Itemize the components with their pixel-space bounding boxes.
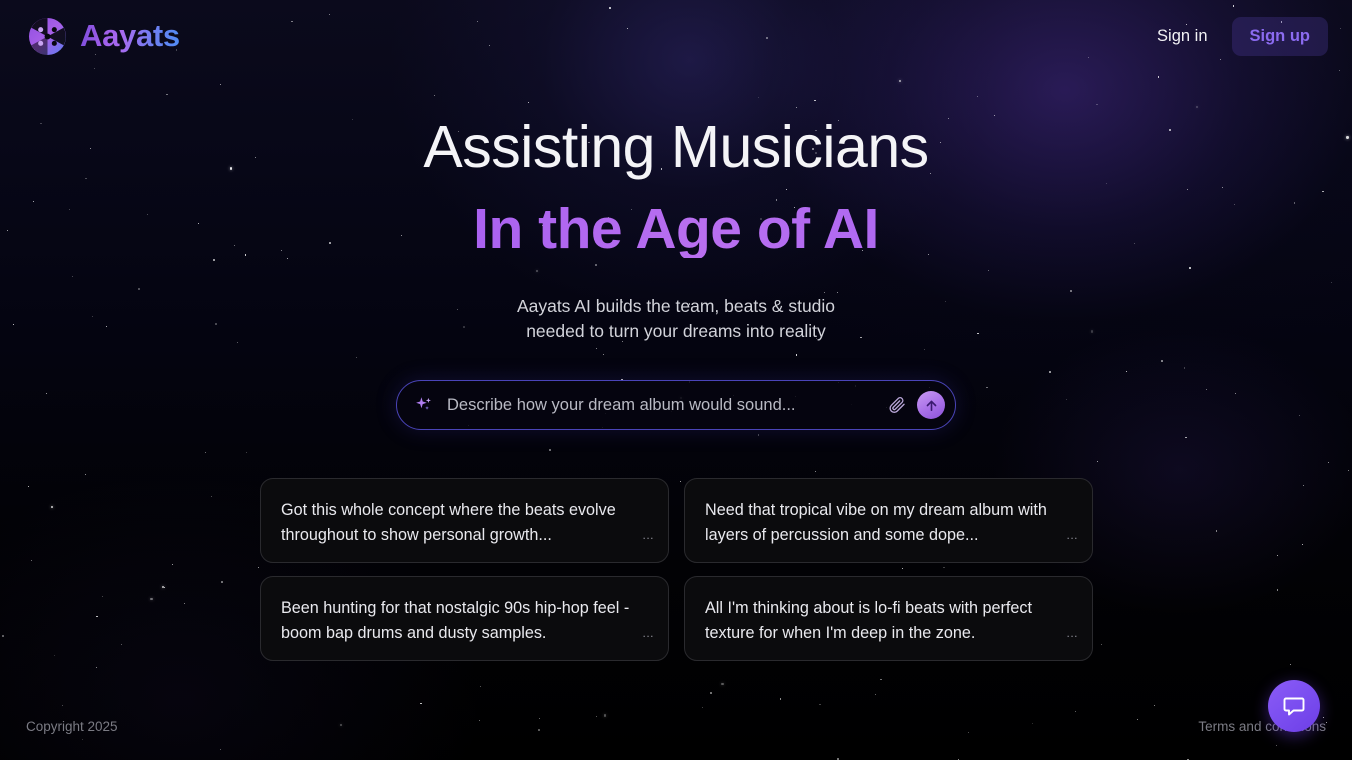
attach-file-button[interactable] xyxy=(881,396,913,414)
suggestion-overflow-ellipsis: ... xyxy=(1066,627,1078,639)
suggestion-cards-grid: Got this whole concept where the beats e… xyxy=(260,478,1091,661)
suggestion-text: Been hunting for that nostalgic 90s hip-… xyxy=(281,596,646,645)
send-prompt-button[interactable] xyxy=(917,391,945,419)
aayats-pinwheel-logo-icon xyxy=(28,17,67,56)
suggestion-card[interactable]: All I'm thinking about is lo-fi beats wi… xyxy=(684,576,1093,661)
suggestion-card[interactable]: Been hunting for that nostalgic 90s hip-… xyxy=(260,576,669,661)
page-root: Aayats Sign in Sign up Assisting Musicia… xyxy=(0,0,1352,760)
sign-up-button[interactable]: Sign up xyxy=(1232,17,1329,56)
suggestion-text: All I'm thinking about is lo-fi beats wi… xyxy=(705,596,1070,645)
hero-headline-primary: Assisting Musicians xyxy=(0,118,1352,177)
prompt-input-bar[interactable] xyxy=(396,380,956,430)
sparkles-icon xyxy=(413,394,435,416)
suggestion-overflow-ellipsis: ... xyxy=(642,627,654,639)
hero-headline-accent: In the Age of AI xyxy=(0,201,1352,258)
suggestion-overflow-ellipsis: ... xyxy=(642,529,654,541)
site-footer: Copyright 2025 Terms and conditions xyxy=(0,719,1352,734)
chat-support-button[interactable] xyxy=(1268,680,1320,732)
copyright-text: Copyright 2025 xyxy=(26,719,118,734)
suggestion-overflow-ellipsis: ... xyxy=(1066,529,1078,541)
hero-section: Assisting Musicians In the Age of AI Aay… xyxy=(0,118,1352,344)
sign-in-link[interactable]: Sign in xyxy=(1147,19,1217,54)
brand-logo[interactable]: Aayats xyxy=(28,17,180,56)
suggestion-card[interactable]: Got this whole concept where the beats e… xyxy=(260,478,669,563)
header-nav: Sign in Sign up xyxy=(1147,17,1328,56)
prompt-input[interactable] xyxy=(447,396,881,415)
paperclip-icon xyxy=(888,396,906,414)
hero-subtitle-line-1: Aayats AI builds the team, beats & studi… xyxy=(517,296,835,316)
arrow-up-icon xyxy=(924,398,939,413)
hero-subtitle-line-2: needed to turn your dreams into reality xyxy=(526,321,826,341)
chat-bubble-icon xyxy=(1282,694,1306,718)
hero-subtitle: Aayats AI builds the team, beats & studi… xyxy=(0,294,1352,344)
brand-name: Aayats xyxy=(80,18,180,54)
suggestion-text: Got this whole concept where the beats e… xyxy=(281,498,646,547)
site-header: Aayats Sign in Sign up xyxy=(0,0,1352,72)
suggestion-text: Need that tropical vibe on my dream albu… xyxy=(705,498,1070,547)
suggestion-card[interactable]: Need that tropical vibe on my dream albu… xyxy=(684,478,1093,563)
